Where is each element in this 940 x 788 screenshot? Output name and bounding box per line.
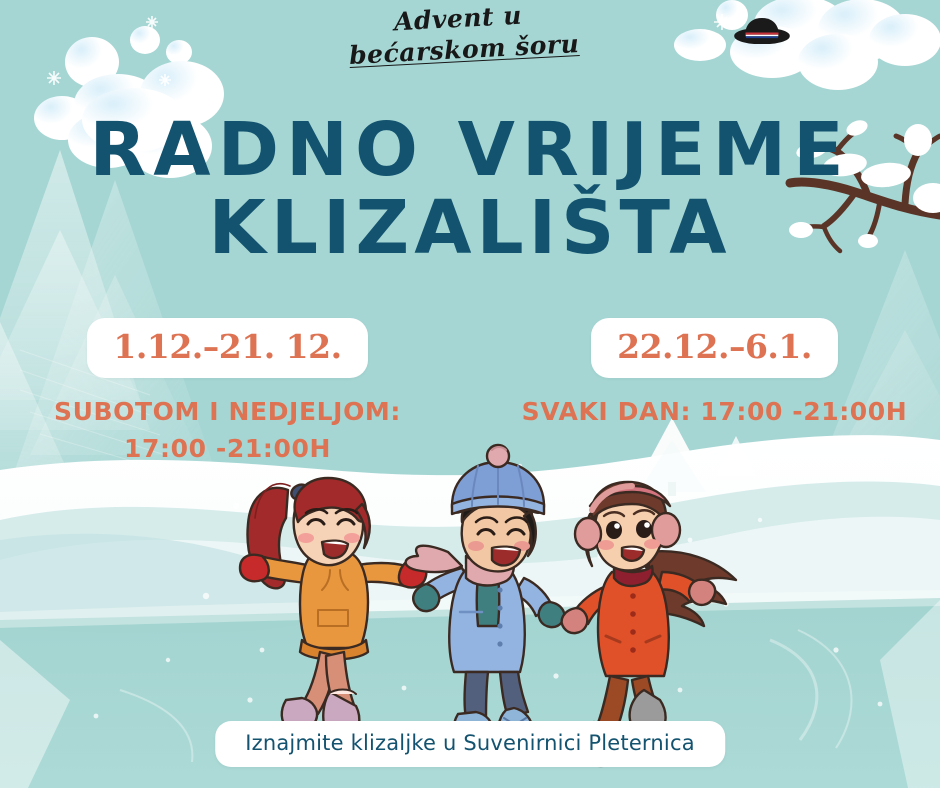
schedule-period-1: 1.12.–21. 12. SUBOTOM I NEDJELJOM: 17:00… — [0, 318, 471, 467]
date-badge-1: 1.12.–21. 12. — [87, 318, 367, 378]
page-title: RADNO VRIJEME KLIZALIŠTA — [0, 112, 940, 268]
rental-note-text: Iznajmite klizaljke u Suvenirnici Pleter… — [245, 731, 695, 755]
poster: Advent u bećarskom šoru RADNO VRIJEME KL… — [0, 0, 940, 788]
schedule-days-1: SUBOTOM I NEDJELJOM: — [54, 393, 401, 430]
date-badge-2: 22.12.–6.1. — [591, 318, 838, 378]
headline-line-2: KLIZALIŠTA — [0, 188, 940, 268]
logo-line1: Advent u — [393, 1, 522, 37]
date-badge-2-label: 22.12.–6.1. — [617, 327, 812, 366]
event-logo: Advent u bećarskom šoru — [0, 4, 940, 64]
skater-girl-red-ponytail — [240, 478, 426, 754]
headline-line-1: RADNO VRIJEME — [0, 112, 940, 188]
rental-note-banner: Iznajmite klizaljke u Suvenirnici Pleter… — [215, 721, 725, 767]
schedule-hours-1: 17:00 -21:00H — [124, 430, 331, 467]
schedule-section: 1.12.–21. 12. SUBOTOM I NEDJELJOM: 17:00… — [0, 318, 940, 467]
date-badge-1-label: 1.12.–21. 12. — [113, 327, 341, 366]
schedule-days-2: SVAKI DAN: 17:00 -21:00H — [522, 393, 908, 430]
bowler-hat-icon — [734, 10, 790, 44]
schedule-period-2: 22.12.–6.1. SVAKI DAN: 17:00 -21:00H — [471, 318, 940, 467]
logo-line2: bećarskom šoru — [348, 29, 580, 70]
skater-boy-blue-beanie — [406, 445, 565, 756]
